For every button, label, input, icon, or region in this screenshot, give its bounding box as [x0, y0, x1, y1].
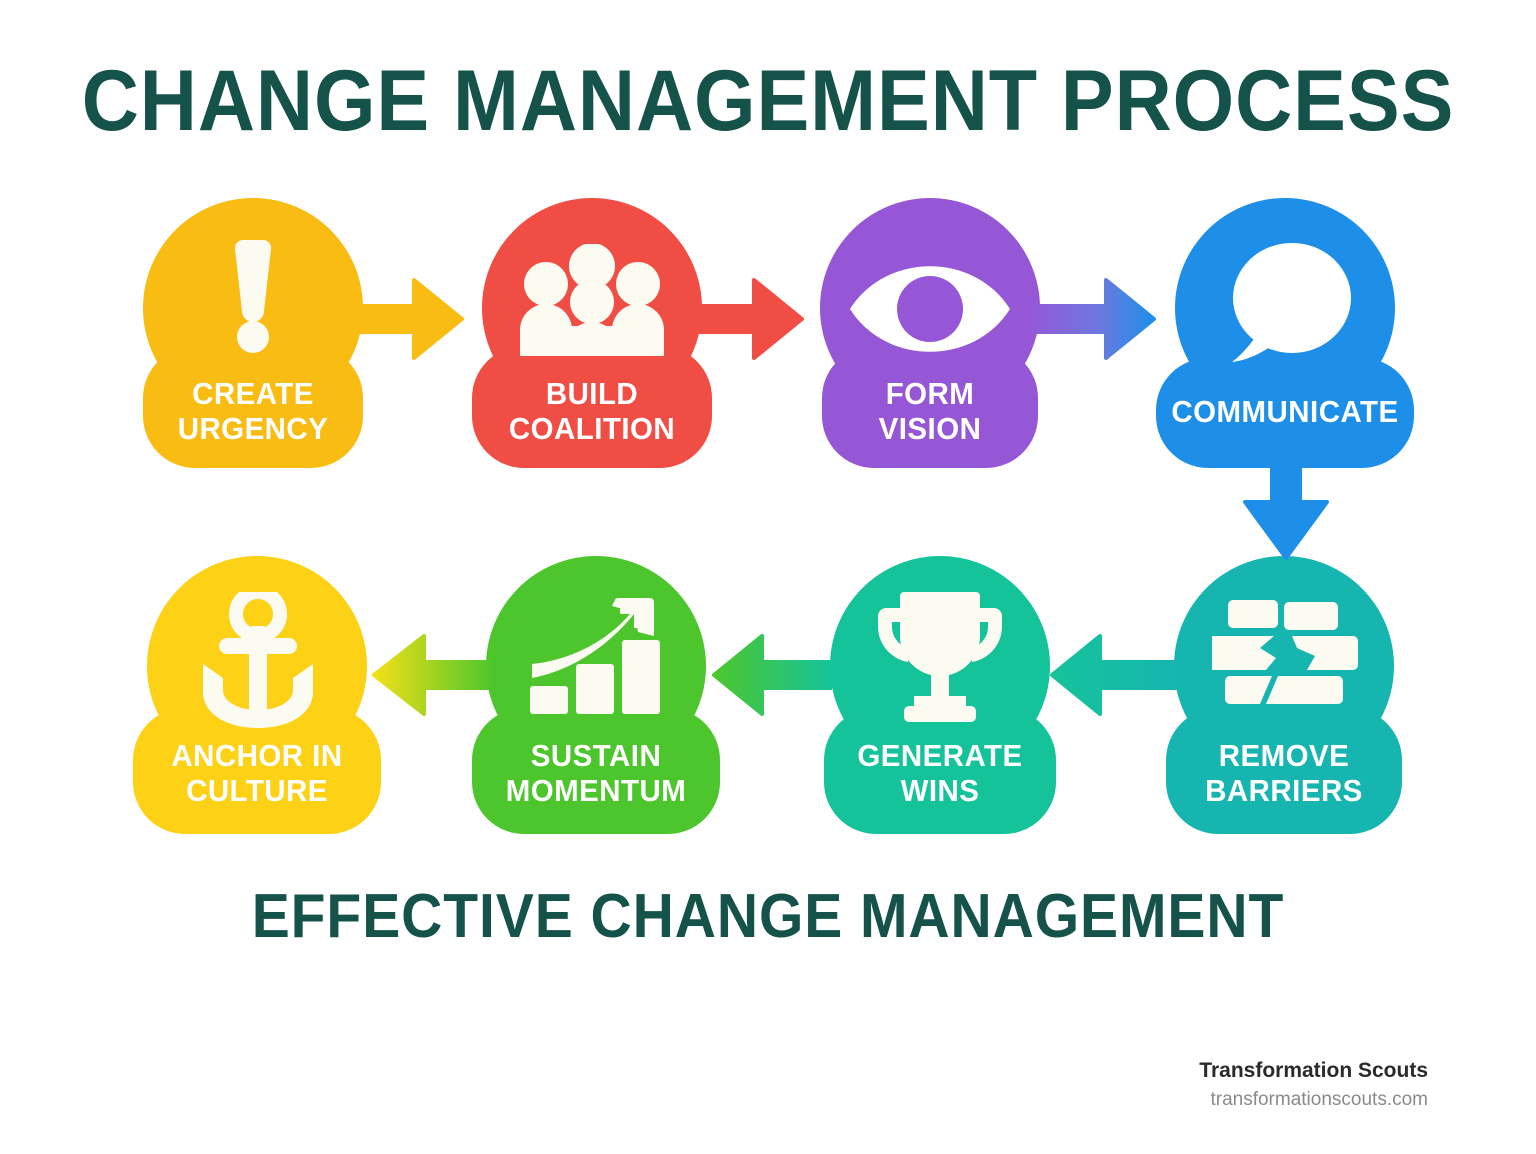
connector-arrow-7-to-8 — [372, 634, 494, 716]
step-label: GENERATE WINS — [826, 738, 1054, 808]
infographic-canvas: CHANGE MANAGEMENT PROCESS — [0, 0, 1536, 1154]
step-label: ANCHOR IN CULTURE — [139, 738, 375, 808]
step-label: BUILD COALITION — [478, 376, 706, 446]
step-node-sustain-momentum[interactable]: SUSTAIN MOMENTUM — [472, 556, 720, 834]
connector-arrow-1-to-2 — [352, 278, 464, 360]
growth-chart-icon — [530, 598, 666, 714]
step-label: REMOVE BARRIERS — [1170, 738, 1398, 808]
step-node-build-coalition[interactable]: BUILD COALITION — [472, 198, 712, 468]
connector-arrow-2-to-3 — [690, 278, 804, 360]
step-label: COMMUNICATE — [1162, 394, 1407, 429]
connector-arrow-5-to-6 — [1050, 634, 1178, 716]
speech-bubble-icon — [1220, 238, 1356, 366]
connector-arrow-4-to-5 — [1243, 440, 1329, 560]
brand-website: transformationscouts.com — [1199, 1086, 1428, 1114]
step-node-create-urgency[interactable]: CREATE URGENCY — [133, 198, 373, 468]
page-title: CHANGE MANAGEMENT PROCESS — [61, 58, 1474, 144]
connector-arrow-3-to-4 — [1028, 278, 1156, 360]
exclamation-mark-icon — [225, 236, 281, 356]
brand-name: Transformation Scouts — [1199, 1056, 1428, 1086]
connector-arrow-6-to-7 — [712, 634, 832, 716]
step-node-communicate[interactable]: COMMUNICATE — [1156, 198, 1414, 468]
step-node-generate-wins[interactable]: GENERATE WINS — [820, 556, 1060, 834]
people-group-icon — [520, 244, 664, 356]
step-node-anchor-in-culture[interactable]: ANCHOR IN CULTURE — [133, 556, 381, 834]
step-node-remove-barriers[interactable]: REMOVE BARRIERS — [1164, 556, 1404, 834]
step-label: SUSTAIN MOMENTUM — [478, 738, 714, 808]
step-label: CREATE URGENCY — [139, 376, 367, 446]
eye-icon — [846, 260, 1014, 358]
step-node-form-vision[interactable]: FORM VISION — [810, 198, 1050, 468]
summary-title: EFFECTIVE CHANGE MANAGEMENT — [61, 886, 1474, 948]
trophy-icon — [878, 592, 1002, 722]
anchor-icon — [193, 592, 323, 728]
step-label: FORM VISION — [816, 376, 1044, 446]
footer-credit: Transformation Scouts transformationscou… — [1199, 1056, 1428, 1114]
broken-wall-icon — [1212, 600, 1358, 704]
